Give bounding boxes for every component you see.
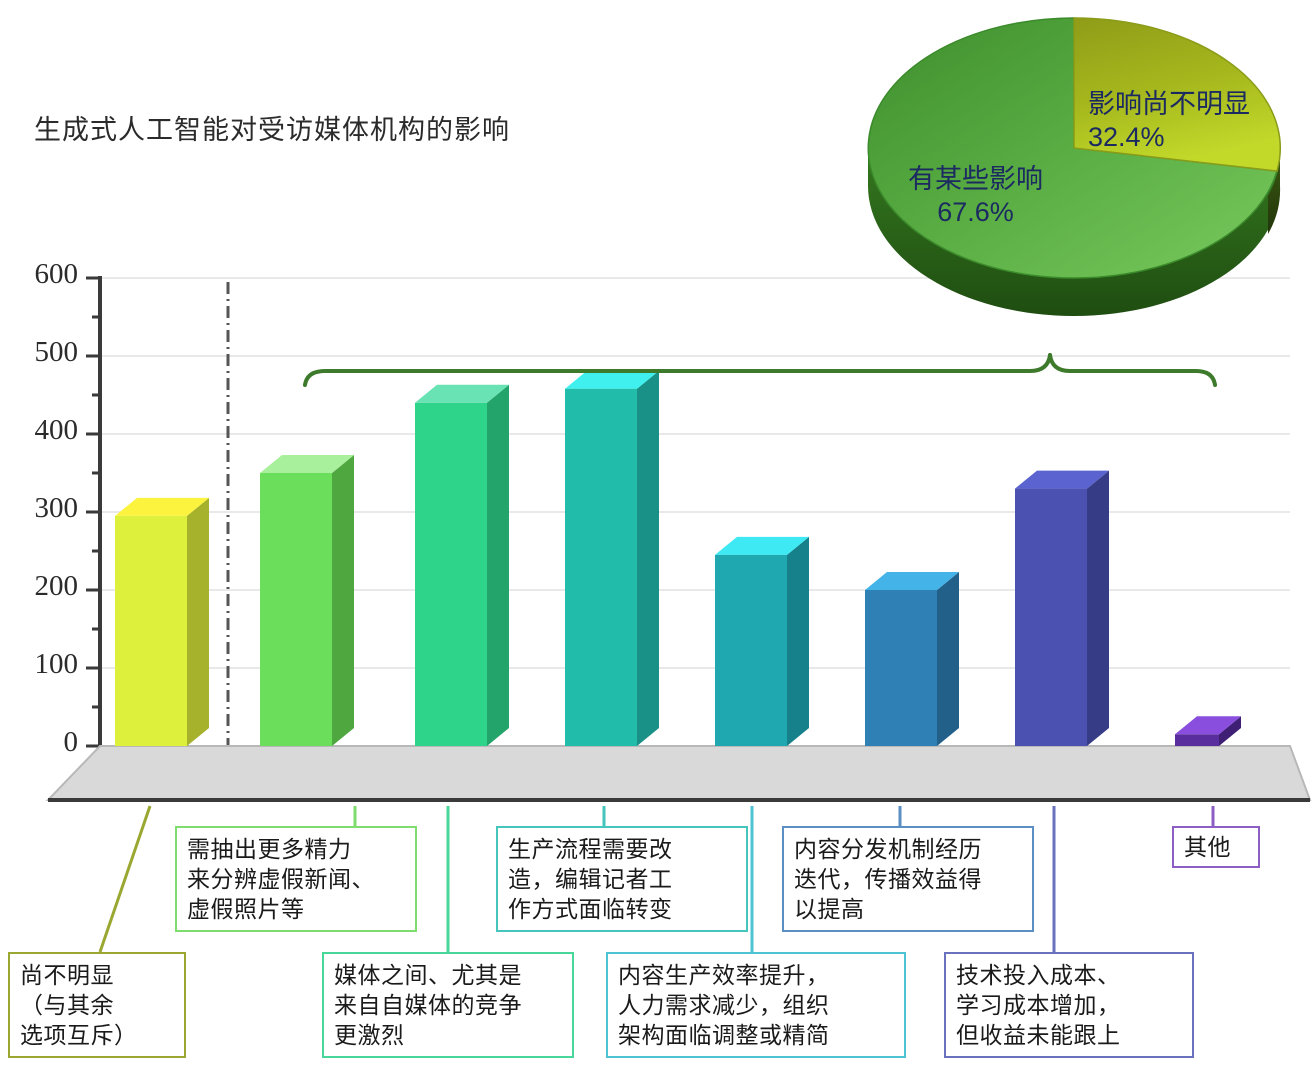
y-tick-300: 300 <box>2 492 78 525</box>
pie-label-yingxiang-shangbuminxian: 影响尚不明显 32.4% <box>1088 88 1250 154</box>
chart-root: 生成式人工智能对受访媒体机构的影响 <box>0 0 1312 1088</box>
callout-text-4: 生产流程需要改造，编辑记者工作方式面临转变 <box>508 836 673 922</box>
callout-text-3: 媒体之间、尤其是来自自媒体的竞争更激烈 <box>334 962 522 1048</box>
callout-box-7: 技术投入成本、学习成本增加，但收益未能跟上 <box>944 952 1194 1058</box>
bar-1 <box>115 498 209 746</box>
y-tick-0: 0 <box>2 726 78 759</box>
y-tick-400: 400 <box>2 414 78 447</box>
pie-label-text-1: 影响尚不明显 <box>1088 88 1250 121</box>
pie-label-text-2: 有某些影响 <box>908 163 1043 196</box>
callout-box-4: 生产流程需要改造，编辑记者工作方式面临转变 <box>496 826 748 932</box>
callout-text-1: 尚不明显（与其余选项互斥） <box>20 962 138 1048</box>
bar-2 <box>260 455 354 746</box>
pie-label-you-mouxie-yingxiang: 有某些影响 67.6% <box>908 163 1043 229</box>
y-axis <box>86 276 100 746</box>
callout-box-8: 其他 <box>1172 826 1260 868</box>
callout-box-1: 尚不明显（与其余选项互斥） <box>8 952 186 1058</box>
callout-text-6: 内容分发机制经历迭代，传播效益得以提高 <box>794 836 982 922</box>
callout-text-5: 内容生产效率提升，人力需求减少，组织架构面临调整或精简 <box>618 962 830 1048</box>
floor-platform <box>48 746 1310 800</box>
bar-8 <box>1175 716 1241 746</box>
bar-3 <box>415 385 509 746</box>
group-brace <box>305 355 1215 385</box>
y-tick-200: 200 <box>2 570 78 603</box>
bar-4 <box>565 371 659 746</box>
callout-box-5: 内容生产效率提升，人力需求减少，组织架构面临调整或精简 <box>606 952 906 1058</box>
y-tick-100: 100 <box>2 648 78 681</box>
y-tick-500: 500 <box>2 336 78 369</box>
bar-5 <box>715 537 809 746</box>
callout-box-3: 媒体之间、尤其是来自自媒体的竞争更激烈 <box>322 952 574 1058</box>
callout-text-7: 技术投入成本、学习成本增加，但收益未能跟上 <box>956 962 1121 1048</box>
bars-layer <box>115 371 1241 746</box>
callout-box-2: 需抽出更多精力来分辨虚假新闻、虚假照片等 <box>175 826 417 932</box>
callout-text-2: 需抽出更多精力来分辨虚假新闻、虚假照片等 <box>187 836 375 922</box>
bar-6 <box>865 572 959 746</box>
pie-percent-text-1: 32.4% <box>1088 121 1250 154</box>
bar-7 <box>1015 471 1109 746</box>
callout-text-8: 其他 <box>1184 834 1231 860</box>
callout-leader-1 <box>100 806 150 952</box>
callout-box-6: 内容分发机制经历迭代，传播效益得以提高 <box>782 826 1034 932</box>
pie-percent-text-2: 67.6% <box>908 196 1043 229</box>
y-tick-600: 600 <box>2 258 78 291</box>
